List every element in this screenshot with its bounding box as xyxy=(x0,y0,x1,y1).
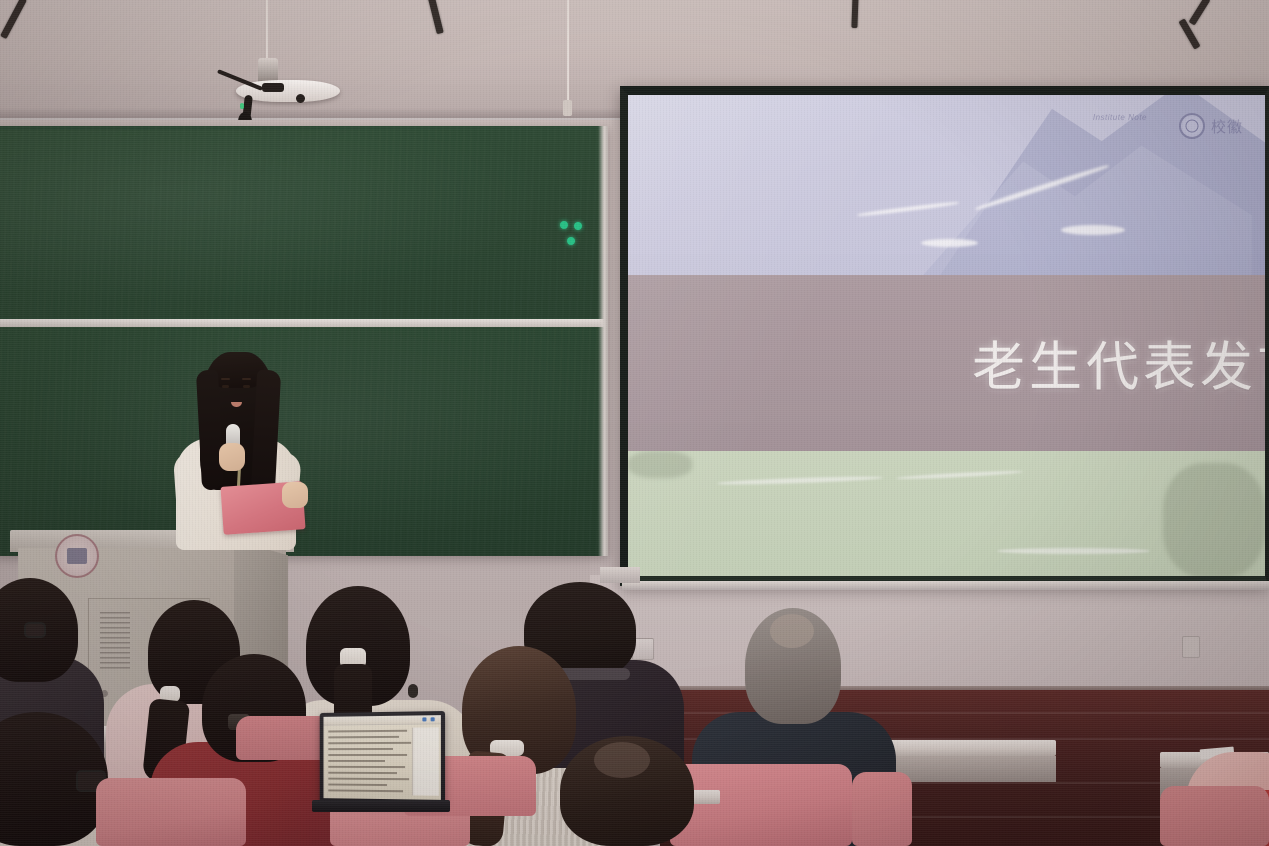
seat-back-right[interactable] xyxy=(670,764,852,846)
magnet-dot-2 xyxy=(574,222,582,230)
speaker-brow-right xyxy=(242,378,251,380)
projection-screen[interactable]: Institute Note 校徽 老生代表发言 xyxy=(628,95,1265,576)
chalkboard-right-edge xyxy=(598,126,608,556)
speaker-hand-holding-mic xyxy=(219,443,245,471)
screen-mount-bracket xyxy=(600,567,640,583)
doc-text-line xyxy=(328,789,403,791)
seat-right-of-man[interactable] xyxy=(852,772,912,846)
slide-title-band: 老生代表发言 xyxy=(628,275,1265,451)
doc-text-line xyxy=(328,778,409,780)
speaker-eye-right xyxy=(243,385,250,388)
doc-text-line xyxy=(328,736,399,738)
grass-highlight-3 xyxy=(997,548,1150,554)
doc-text-line xyxy=(328,784,387,786)
attendee-glasses-left-eyeglasses xyxy=(24,622,46,638)
slide-institution-logo: 校徽 xyxy=(1179,113,1243,139)
open-laptop[interactable] xyxy=(320,711,445,805)
doc-text-line xyxy=(328,772,397,774)
attendee-cream-hood-earphone xyxy=(408,684,418,698)
hanging-rod-3 xyxy=(851,0,858,28)
doc-text-line xyxy=(328,748,393,750)
doc-text-line xyxy=(328,754,407,756)
microphone-led xyxy=(240,103,244,109)
attendee-front-center-bald-patch xyxy=(594,742,650,778)
doc-text-line xyxy=(328,760,385,762)
slide-corner-mark: Institute Note xyxy=(1093,113,1147,122)
grass-highlight-2 xyxy=(896,470,1023,481)
doc-text-line xyxy=(328,730,407,732)
snow-streak-3 xyxy=(1061,225,1125,235)
laptop-document-toolbar[interactable] xyxy=(324,715,441,726)
laptop-document-sidebar[interactable] xyxy=(412,727,439,795)
chalkboard-divider-rail xyxy=(0,319,608,327)
slide-top-image-band: Institute Note 校徽 xyxy=(628,95,1265,275)
lecture-hall-photo: Institute Note 校徽 老生代表发言 xyxy=(0,0,1269,846)
slide-title-text: 老生代表发言 xyxy=(972,325,1265,401)
magnet-dot-3 xyxy=(567,237,575,245)
magnet-dot-1 xyxy=(560,221,568,229)
desk-right-rear xyxy=(880,740,1056,756)
seat-far-right[interactable] xyxy=(1160,786,1269,846)
lectern-vent-right xyxy=(100,612,130,672)
grass-shadow-1 xyxy=(1163,463,1265,576)
wire-anchor xyxy=(563,100,572,116)
grass-highlight-1 xyxy=(717,476,883,487)
grass-shadow-2 xyxy=(628,451,692,479)
chalkboard-upper-panel[interactable] xyxy=(0,130,608,318)
laptop-toolbar-button-1[interactable] xyxy=(422,717,426,721)
suspension-wire-2 xyxy=(567,0,569,104)
mount-bracket xyxy=(262,83,284,92)
speaker-eye-left xyxy=(222,385,229,388)
speaker-brow-left xyxy=(221,378,230,380)
speaker-hand-holding-cards xyxy=(282,482,308,508)
laptop-screen[interactable] xyxy=(324,715,441,800)
university-seal-emblem xyxy=(55,534,99,578)
projection-screen-housing: Institute Note 校徽 老生代表发言 xyxy=(620,86,1269,586)
laptop-toolbar-button-2[interactable] xyxy=(431,717,435,721)
wall-outlet[interactable] xyxy=(1182,636,1200,658)
snow-streak-1 xyxy=(857,201,959,217)
doc-text-line xyxy=(328,766,405,768)
seat-mid-left[interactable] xyxy=(96,778,246,846)
mount-ball xyxy=(296,94,305,103)
suspension-wire-1 xyxy=(266,0,268,60)
slide-logo-wordmark: 校徽 xyxy=(1211,116,1243,137)
screen-bottom-rail xyxy=(622,581,1269,590)
slide-bottom-image-band xyxy=(628,451,1265,576)
seat-upper-left[interactable] xyxy=(236,716,332,760)
attendee-grey-hair-man-bald-spot xyxy=(770,614,814,648)
university-seal-icon xyxy=(1179,113,1205,139)
laptop-keyboard-base[interactable] xyxy=(312,800,450,812)
doc-text-line xyxy=(328,742,411,744)
